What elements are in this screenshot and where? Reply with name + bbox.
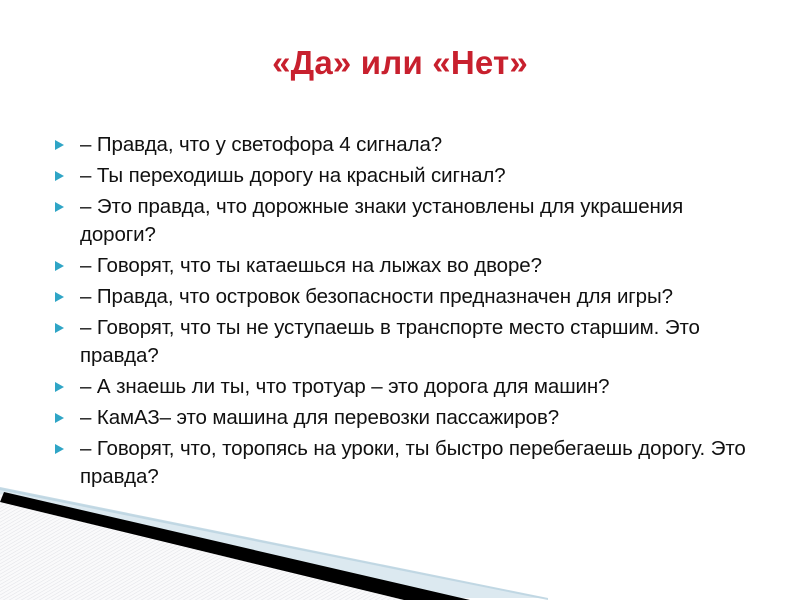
triangle-right-icon bbox=[55, 444, 64, 454]
list-item: – Это правда, что дорожные знаки установ… bbox=[52, 193, 752, 249]
list-item-label: – КамАЗ– это машина для перевозки пассаж… bbox=[80, 404, 752, 432]
triangle-right-icon bbox=[55, 382, 64, 392]
list-item: – А знаешь ли ты, что тротуар – это доро… bbox=[52, 373, 752, 401]
list-item: – КамАЗ– это машина для перевозки пассаж… bbox=[52, 404, 752, 432]
list-item-label: – Говорят, что ты не уступаешь в транспо… bbox=[80, 314, 752, 370]
list-item: – Говорят, что ты катаешься на лыжах во … bbox=[52, 252, 752, 280]
triangle-right-icon bbox=[55, 413, 64, 423]
list-item-label: – Правда, что островок безопасности пред… bbox=[80, 283, 752, 311]
list-item-label: – Говорят, что, торопясь на уроки, ты бы… bbox=[80, 435, 752, 491]
list-item-label: – Ты переходишь дорогу на красный сигнал… bbox=[80, 162, 752, 190]
list-item: – Правда, что у светофора 4 сигнала? bbox=[52, 131, 752, 159]
list-item: – Правда, что островок безопасности пред… bbox=[52, 283, 752, 311]
list-item: – Говорят, что ты не уступаешь в транспо… bbox=[52, 314, 752, 370]
slide-canvas: «Да» или «Нет» – Правда, что у светофора… bbox=[0, 0, 800, 600]
triangle-right-icon bbox=[55, 323, 64, 333]
triangle-right-icon bbox=[55, 140, 64, 150]
triangle-right-icon bbox=[55, 292, 64, 302]
triangle-right-icon bbox=[55, 171, 64, 181]
list-item: – Говорят, что, торопясь на уроки, ты бы… bbox=[52, 435, 752, 491]
bullet-list: – Правда, что у светофора 4 сигнала? – Т… bbox=[52, 131, 752, 494]
page-title: «Да» или «Нет» bbox=[0, 44, 800, 82]
triangle-right-icon bbox=[55, 261, 64, 271]
list-item-label: – Правда, что у светофора 4 сигнала? bbox=[80, 131, 752, 159]
list-item: – Ты переходишь дорогу на красный сигнал… bbox=[52, 162, 752, 190]
triangle-right-icon bbox=[55, 202, 64, 212]
list-item-label: – А знаешь ли ты, что тротуар – это доро… bbox=[80, 373, 752, 401]
list-item-label: – Говорят, что ты катаешься на лыжах во … bbox=[80, 252, 752, 280]
list-item-label: – Это правда, что дорожные знаки установ… bbox=[80, 193, 752, 249]
